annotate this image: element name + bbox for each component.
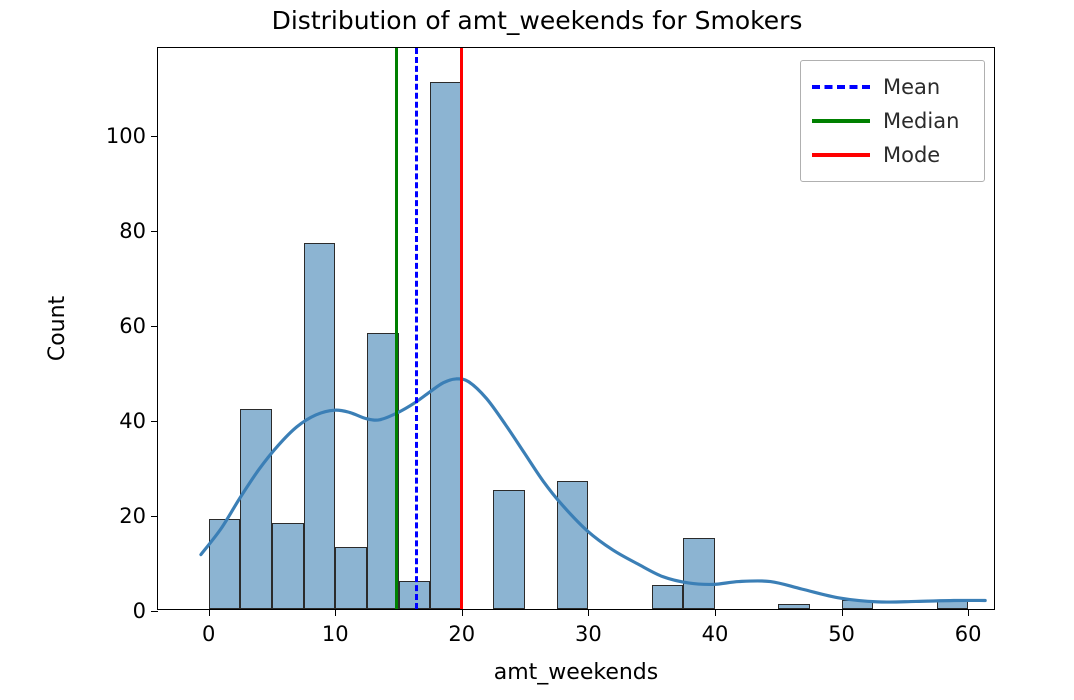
y-tick-mark — [151, 611, 158, 612]
y-tick-mark — [151, 231, 158, 232]
y-axis-label-text: Count — [46, 296, 71, 361]
x-axis-label: amt_weekends — [157, 660, 995, 685]
x-tick-mark — [209, 609, 210, 616]
x-tick-label: 10 — [322, 622, 349, 646]
chart-figure: Distribution of amt_weekends for Smokers… — [0, 0, 1074, 700]
y-tick-label: 60 — [119, 314, 146, 338]
y-tick-mark — [151, 421, 158, 422]
chart-title: Distribution of amt_weekends for Smokers — [0, 6, 1074, 35]
mode-line — [460, 48, 463, 609]
y-axis-label: Count — [44, 47, 72, 610]
x-tick-label: 30 — [575, 622, 602, 646]
y-tick-label: 20 — [119, 504, 146, 528]
x-tick-mark — [588, 609, 589, 616]
mean-line — [415, 48, 418, 609]
x-tick-mark — [715, 609, 716, 616]
plot-axes: 020406080100 0102030405060 — [157, 47, 995, 610]
y-tick-label: 40 — [119, 409, 146, 433]
y-tick-label: 100 — [106, 124, 146, 148]
x-tick-mark — [968, 609, 969, 616]
plot-area — [158, 48, 994, 609]
stat-lines — [158, 48, 994, 609]
x-tick-mark — [335, 609, 336, 616]
y-tick-label: 80 — [119, 219, 146, 243]
x-tick-label: 40 — [702, 622, 729, 646]
median-line — [395, 48, 398, 609]
y-tick-label: 0 — [133, 599, 146, 623]
x-tick-label: 0 — [202, 622, 215, 646]
x-tick-mark — [842, 609, 843, 616]
y-tick-mark — [151, 516, 158, 517]
y-tick-mark — [151, 136, 158, 137]
x-tick-label: 20 — [448, 622, 475, 646]
x-tick-label: 50 — [828, 622, 855, 646]
x-tick-label: 60 — [955, 622, 982, 646]
x-tick-mark — [462, 609, 463, 616]
y-tick-mark — [151, 326, 158, 327]
